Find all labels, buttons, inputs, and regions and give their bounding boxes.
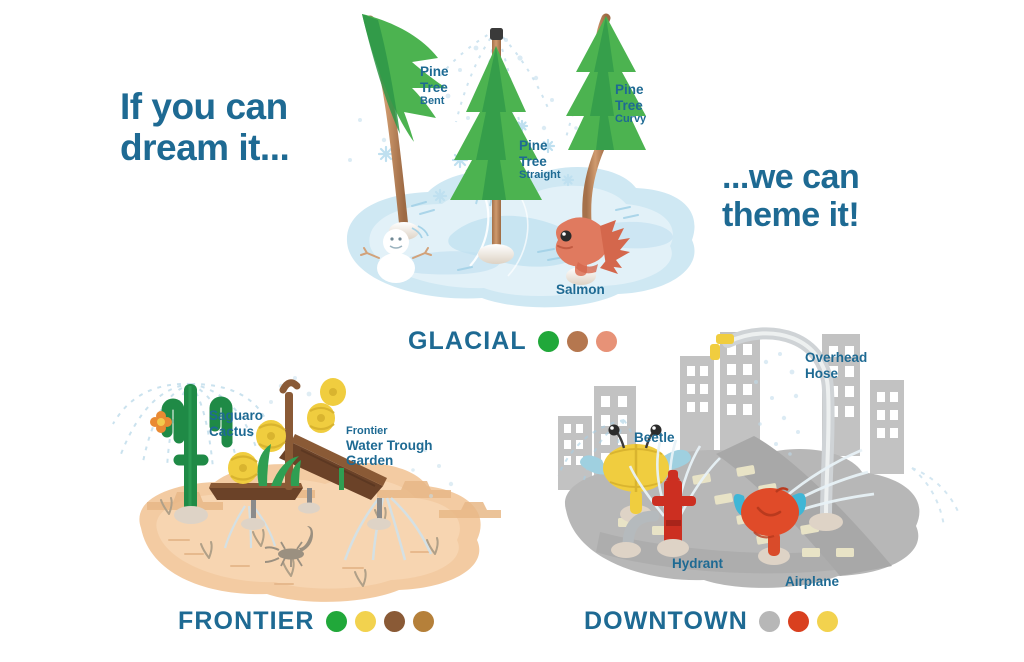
label-line-2: Tree: [615, 98, 646, 114]
label-line-3: Curvy: [615, 113, 646, 126]
color-dot: [384, 611, 405, 632]
label-line-1: Salmon: [556, 282, 605, 298]
headline-right-line2: theme it!: [722, 196, 859, 234]
label-line-3: Straight: [519, 169, 561, 182]
flower-sprayer[interactable]: [228, 452, 258, 484]
label-line-2: Tree: [420, 80, 449, 96]
color-dot: [326, 611, 347, 632]
label-line-1: Water Trough: [346, 438, 433, 454]
headline-right: ...we can theme it!: [722, 158, 859, 234]
label-line-1: Airplane: [785, 574, 839, 590]
theme-name-downtown: DOWNTOWN: [584, 607, 748, 636]
headline-left: If you can dream it...: [120, 86, 289, 169]
color-dot: [788, 611, 809, 632]
label-pine-tree-straight: Pine Tree Straight: [519, 138, 561, 182]
label-salmon: Salmon: [556, 282, 605, 298]
label-pine-tree-bent: Pine Tree Bent: [420, 64, 449, 108]
flower-sprayer[interactable]: [307, 403, 335, 433]
theme-title-downtown: DOWNTOWN: [584, 607, 838, 636]
label-line-3: Bent: [420, 95, 449, 108]
label-line-1: Overhead: [805, 350, 867, 366]
theme-color-dots-frontier: [326, 611, 434, 632]
color-dot: [817, 611, 838, 632]
label-beetle: Beetle: [634, 430, 675, 446]
flower-sprayer[interactable]: [320, 378, 346, 406]
label-eyebrow: Frontier: [346, 425, 433, 438]
label-frontier-water-trough-garden: Frontier Water Trough Garden: [346, 425, 433, 469]
label-airplane: Airplane: [785, 574, 839, 590]
headline-left-line1: If you can: [120, 86, 288, 127]
label-pine-tree-curvy: Pine Tree Curvy: [615, 82, 646, 126]
label-line-1: Saguaro: [209, 408, 263, 424]
theme-title-frontier: FRONTIER: [178, 607, 434, 636]
downtown-right-spray: [912, 468, 960, 526]
headline-right-line1: ...we can: [722, 158, 859, 196]
theme-name-frontier: FRONTIER: [178, 607, 315, 636]
label-overhead-hose: Overhead Hose: [805, 350, 867, 381]
label-line-1: Hydrant: [672, 556, 723, 572]
label-saguaro-cactus: Saguaro Cactus: [209, 408, 263, 439]
label-line-1: Pine: [420, 64, 449, 80]
label-hydrant: Hydrant: [672, 556, 723, 572]
label-line-2: Hose: [805, 366, 867, 382]
color-dot: [413, 611, 434, 632]
color-dot: [355, 611, 376, 632]
poster-canvas: If you can dream it... ...we can theme i…: [0, 0, 1024, 662]
scene-downtown: [540, 320, 970, 630]
label-line-1: Beetle: [634, 430, 675, 446]
scene-glacial: [300, 0, 720, 330]
label-line-2: Garden: [346, 453, 433, 469]
label-line-1: Pine: [615, 82, 646, 98]
label-line-2: Cactus: [209, 424, 263, 440]
label-line-2: Tree: [519, 154, 561, 170]
label-line-1: Pine: [519, 138, 561, 154]
scene-frontier: [95, 300, 515, 630]
headline-left-line2: dream it...: [120, 127, 289, 168]
color-dot: [759, 611, 780, 632]
theme-color-dots-downtown: [759, 611, 838, 632]
